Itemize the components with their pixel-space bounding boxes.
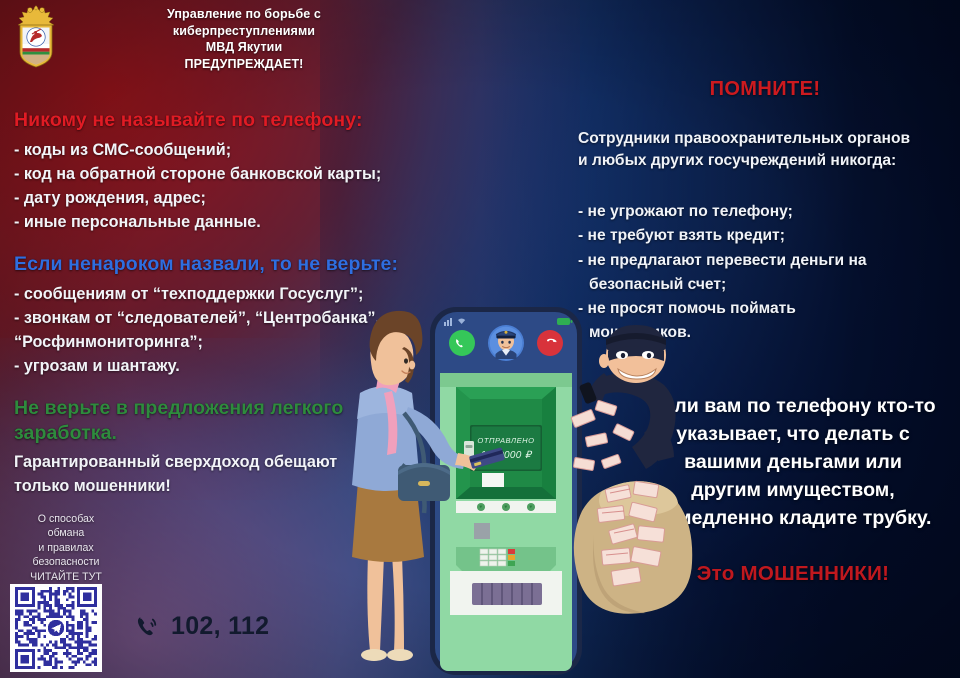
list-item: безопасный счет; — [578, 273, 960, 297]
hotline[interactable]: 102, 112 — [134, 612, 269, 641]
poster-canvas: Управление по борьбе с киберпреступления… — [0, 0, 960, 678]
qr-caption: О способах обмана и правилах безопасност… — [8, 512, 124, 584]
list-item: - дату рождения, адрес; — [14, 186, 381, 210]
remember-title: ПОМНИТЕ! — [640, 78, 890, 101]
header-line-4: ПРЕДУПРЕЖДАЕТ! — [64, 56, 424, 73]
right-intro-line-2: и любых других госучреждений никогда: — [578, 150, 960, 172]
block2-heading: Если ненароком назвали, то не верьте: — [14, 252, 398, 277]
list-item: - не угрожают по телефону; — [578, 200, 960, 224]
list-item: - коды из СМС-сообщений; — [14, 138, 381, 162]
header: Управление по борьбе с киберпреступления… — [0, 0, 540, 72]
block3-heading-line-2: заработка. — [14, 421, 343, 446]
atm-screen-line-1: ОТПРАВЛЕНО — [477, 436, 534, 445]
masked-thief-with-phone-figure — [571, 325, 676, 471]
list-item: - не требуют взять кредит; — [578, 224, 960, 248]
block3-body: Гарантированный сверхдоход обещают тольк… — [14, 450, 343, 498]
hotline-number: 102, 112 — [171, 612, 269, 641]
block3-heading-line-1: Не верьте в предложения легкого — [14, 396, 343, 421]
qr-caption-line-5: ЧИТАЙТЕ ТУТ — [8, 570, 124, 584]
qr-caption-line-2: обмана — [8, 526, 124, 540]
qr-code[interactable] — [10, 584, 102, 672]
advice-block-easy-money: Не верьте в предложения легкого заработк… — [14, 396, 343, 498]
mvd-russia-emblem-icon — [10, 4, 62, 70]
header-line-2: киберпреступлениями — [64, 23, 424, 40]
block3-body-line-1: Гарантированный сверхдоход обещают — [14, 450, 343, 474]
qr-caption-line-3: и правилах — [8, 541, 124, 555]
smartphone-illustration: ОТПРАВЛЕНО 1000000 ₽ — [430, 307, 582, 675]
right-intro: Сотрудники правоохранительных органов и … — [578, 128, 960, 172]
block1-heading: Никому не называйте по телефону: — [14, 108, 381, 133]
header-line-3: МВД Якутии — [64, 39, 424, 56]
money-bag-with-banknotes — [574, 481, 692, 614]
block1-list: - коды из СМС-сообщений; - код на обратн… — [14, 138, 381, 234]
qr-caption-line-4: безопасности — [8, 555, 124, 569]
advice-block-dont-tell: Никому не называйте по телефону: - коды … — [14, 108, 381, 234]
block3-body-line-2: только мошенники! — [14, 474, 343, 498]
qr-caption-line-1: О способах — [8, 512, 124, 526]
header-line-1: Управление по борьбе с — [64, 6, 424, 23]
list-item: - код на обратной стороне банковской кар… — [14, 162, 381, 186]
atm-illustration: ОТПРАВЛЕНО 1000000 ₽ — [440, 373, 572, 671]
phone-ringing-icon — [134, 613, 162, 641]
illustration-group: ОТПРАВЛЕНО 1000000 ₽ — [330, 295, 750, 678]
list-item: - иные персональные данные. — [14, 210, 381, 234]
list-item: - не предлагают перевести деньги на — [578, 249, 960, 273]
right-intro-line-1: Сотрудники правоохранительных органов — [578, 128, 960, 150]
header-title: Управление по борьбе с киберпреступления… — [64, 6, 424, 72]
